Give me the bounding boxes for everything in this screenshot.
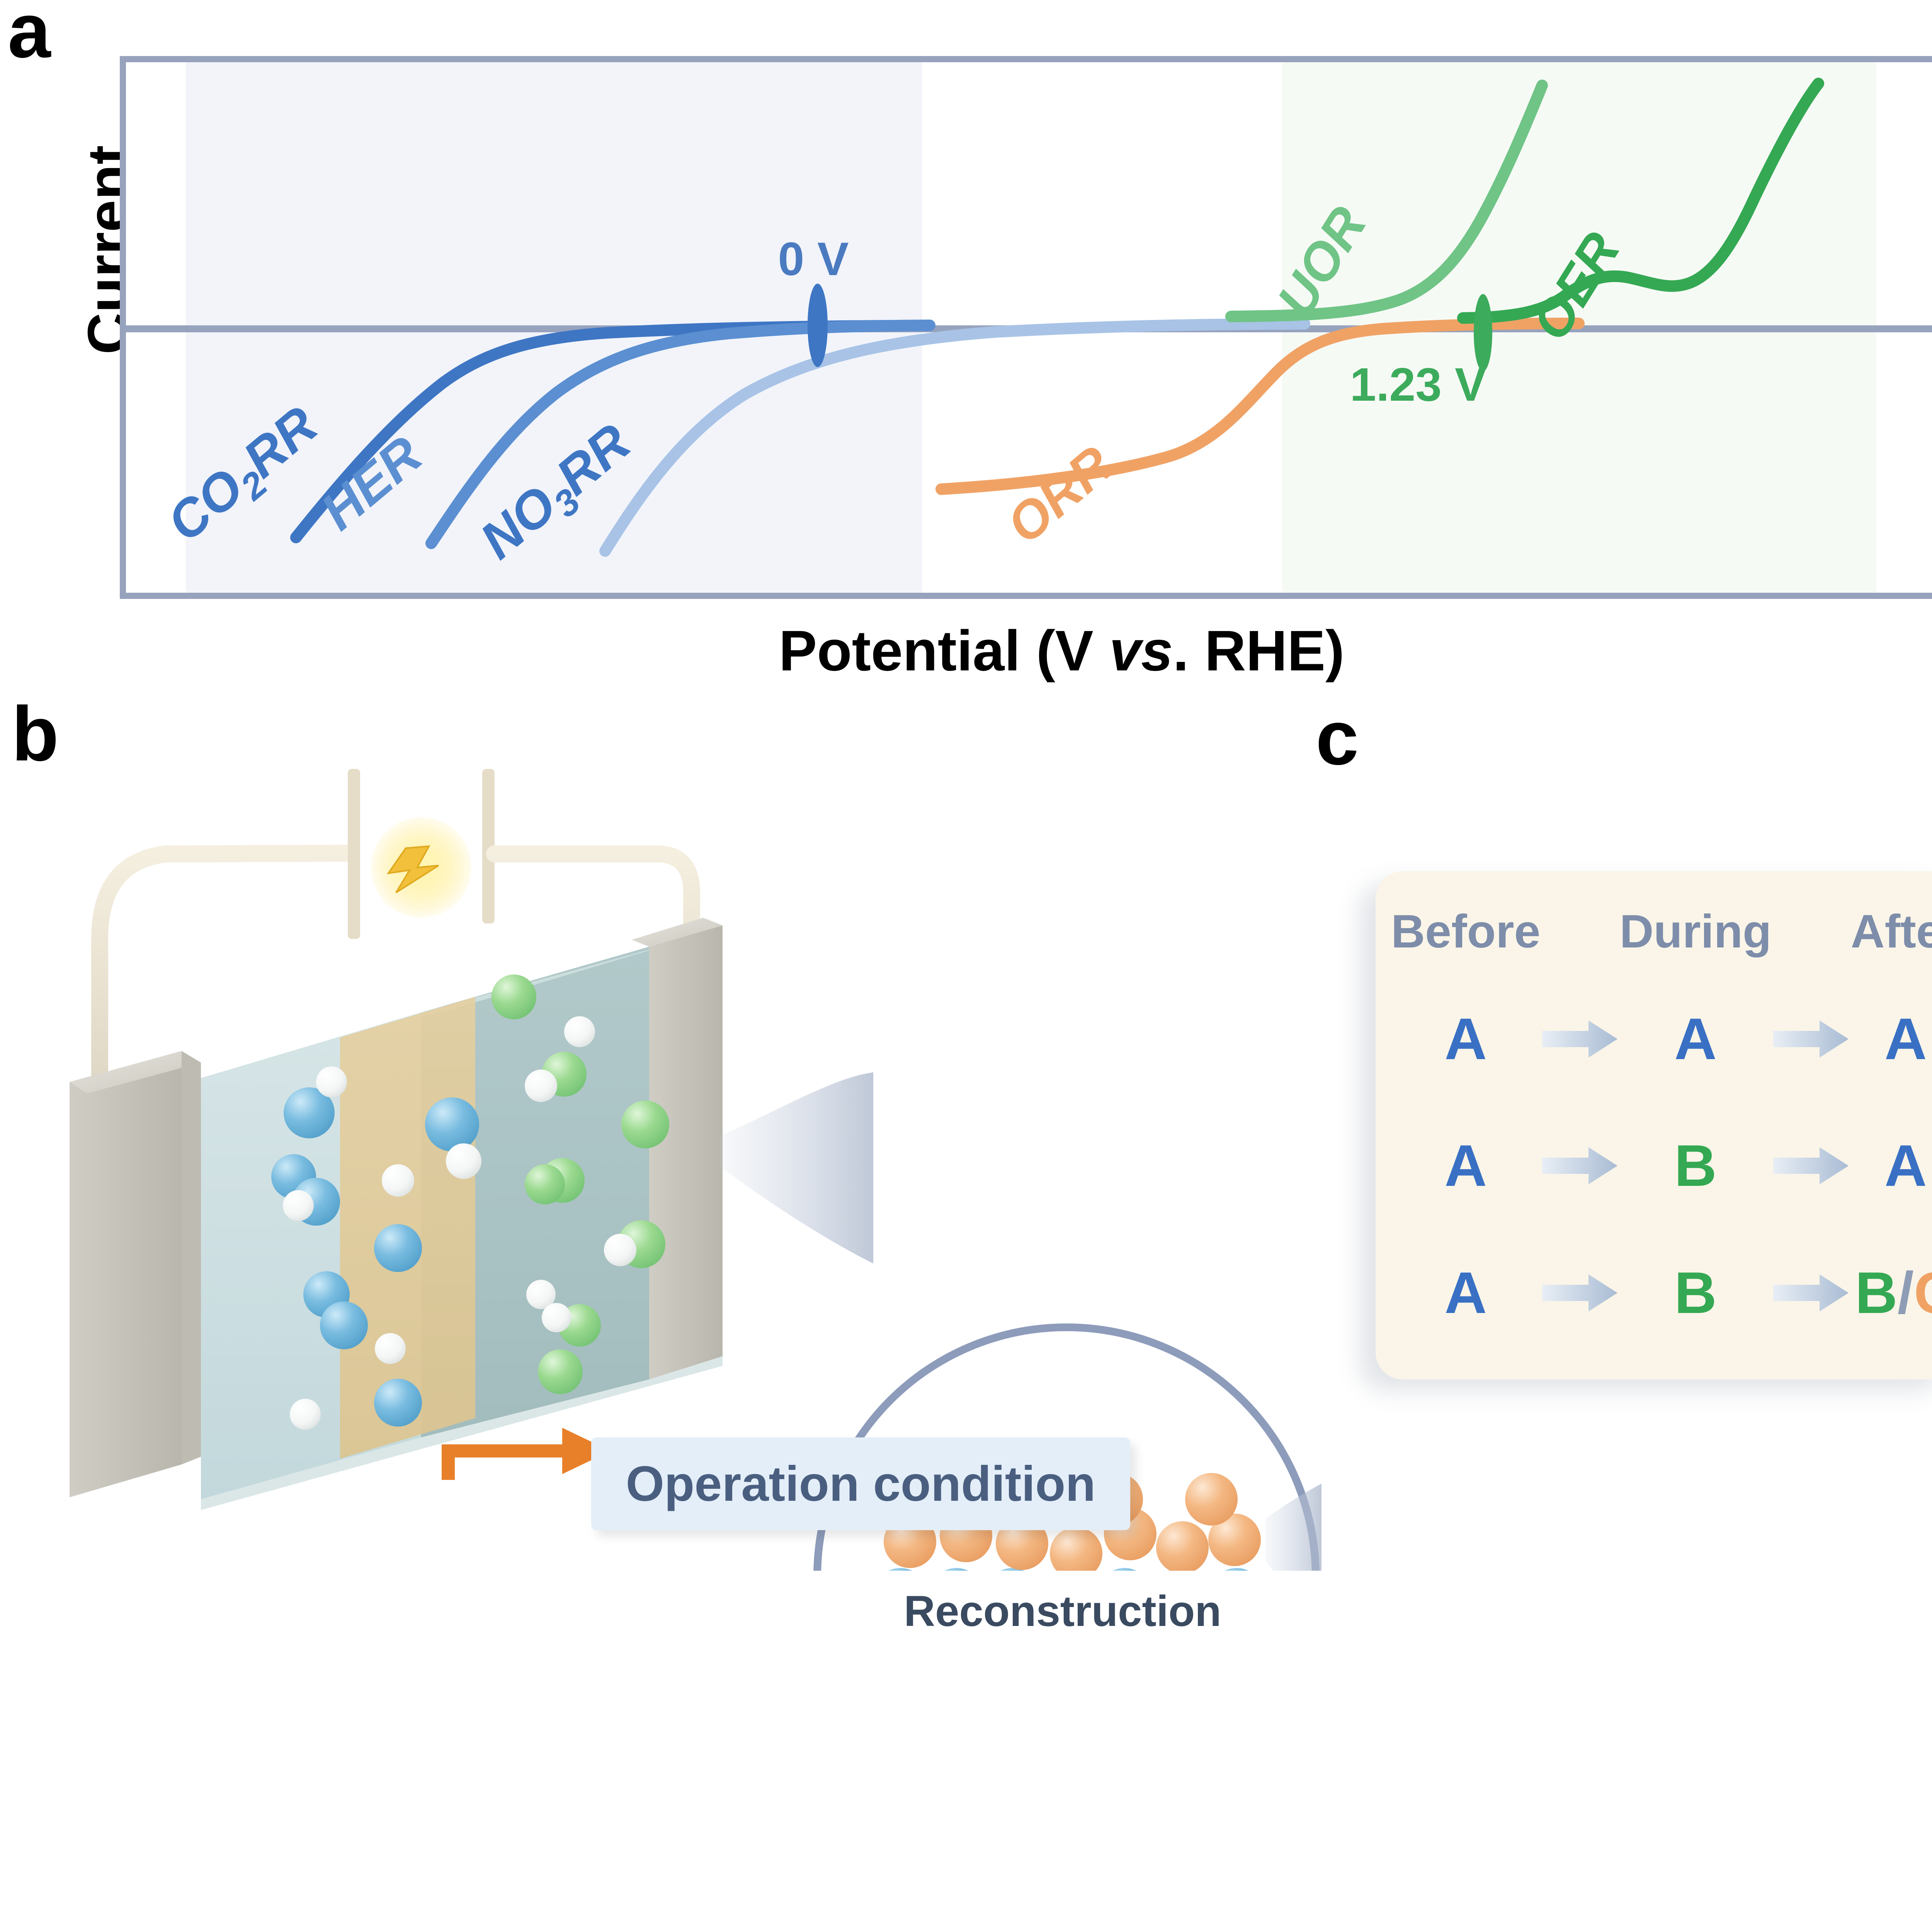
callout-operation-condition[interactable]: Operation condition [591,1437,1130,1530]
arrow-to-operation-condition [448,1428,611,1480]
transformation-card: Before During After A A A A B [1376,871,1932,1379]
cell-wall-left [70,1051,182,1497]
x-axis-label: Potential (V vs. RHE) [120,618,1932,684]
panel-c: c Before During After A A A A [1314,692,1932,1571]
zoom-cone [721,1072,873,1264]
annotation-0v: 0 V [736,232,891,286]
cell-wall-right [649,925,723,1379]
electrode-post-left [348,769,360,939]
cell-row2-during: B [1674,1136,1717,1195]
cell-row3-before: A [1444,1264,1487,1322]
cell-row1-during: A [1674,1010,1717,1068]
transition-arrow-icon [1771,1272,1850,1314]
cell-row3-after: B/C [1855,1264,1932,1322]
cell-row3-during: B [1674,1264,1717,1322]
column-header-during: During [1619,904,1771,958]
tick-0v [808,284,828,367]
column-header-after: After [1850,904,1932,958]
transition-arrow-icon [1771,1018,1850,1060]
transition-arrow-icon [1540,1145,1619,1187]
panel-letter-c: c [1316,699,1357,777]
transition-arrow-icon [1540,1018,1619,1060]
cell-row2-before: A [1444,1136,1487,1195]
panel-a: a Current CO2RR HER [0,0,1932,696]
column-header-before: Before [1391,904,1540,958]
cell-row1-after: A [1884,1010,1927,1068]
panel-letter-a: a [8,0,49,70]
transformation-grid: Before During After A A A A B [1376,871,1932,1379]
panel-b: b [0,692,1321,1571]
plot-frame: CO2RR HER NO3RR ORR UOR OER [120,56,1932,599]
transition-arrow-icon [1771,1145,1850,1187]
annotation-123v: 1.23 V [1310,357,1526,412]
cell-row1-before: A [1444,1010,1487,1068]
cell-row2-after: A [1884,1136,1927,1195]
label-reconstruction: Reconstruction [889,1586,1236,1636]
transition-arrow-icon [1540,1272,1619,1314]
curve-oer [1463,83,1818,318]
